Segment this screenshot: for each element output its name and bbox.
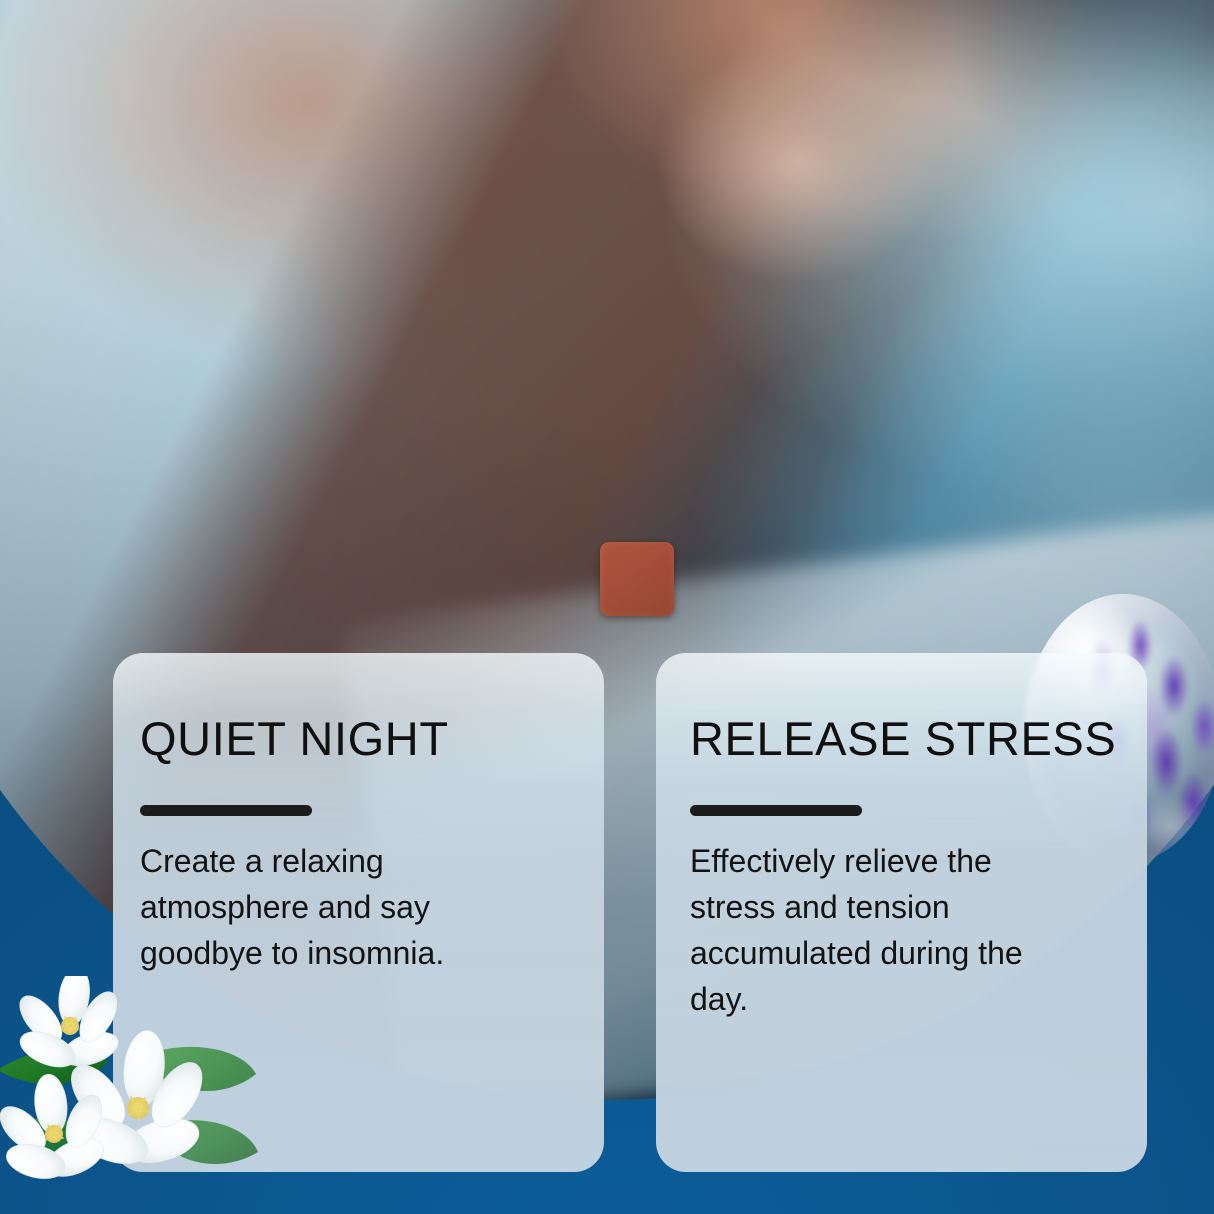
card-title-release-stress: RELEASE STRESS (683, 715, 1107, 762)
card-title-quiet-night: QUIET NIGHT (140, 715, 564, 762)
feature-card-release-stress: RELEASE STRESS Effectively relieve the s… (656, 653, 1147, 1172)
feature-card-list: QUIET NIGHT Create a relaxing atmosphere… (113, 653, 1147, 1172)
card-body-release-stress: Effectively relieve the stress and tensi… (683, 838, 1083, 1022)
product-feature-poster: QUIET NIGHT Create a relaxing atmosphere… (0, 0, 1214, 1214)
sleep-patch-icon (600, 542, 674, 616)
jasmine-flower-icon (0, 976, 262, 1196)
card-body-quiet-night: Create a relaxing atmosphere and say goo… (140, 838, 485, 976)
card-rule-quiet-night (140, 805, 312, 816)
card-rule-release-stress (690, 805, 862, 816)
